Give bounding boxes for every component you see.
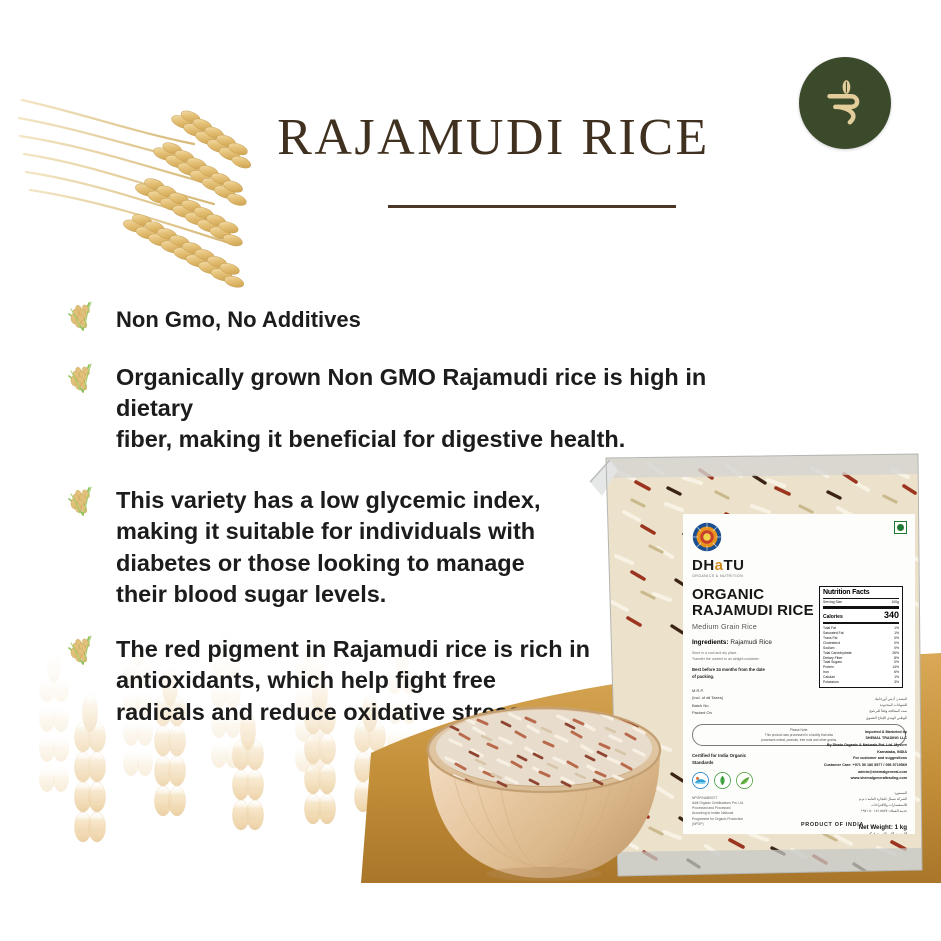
- rice-bowl-image: [388, 688, 700, 888]
- calories-label: Calories: [823, 614, 843, 620]
- importer-text: Imported & Marketed by SHEMAL TRADING LL…: [819, 729, 907, 782]
- list-item-label: Non Gmo, No Additives: [116, 300, 361, 335]
- list-item-label: Organically grown Non GMO Rajamudi rice …: [116, 362, 762, 455]
- list-item-label: This variety has a low glycemic index, m…: [116, 485, 540, 610]
- bottom-white-band: [0, 883, 941, 941]
- jaivik-bharat-badge-icon: [736, 772, 753, 789]
- rice-stalk-icon: [62, 630, 102, 670]
- nutrition-row: Potassium3%: [823, 680, 899, 685]
- serving-size-value: 100g: [891, 600, 899, 605]
- list-item: Non Gmo, No Additives: [62, 300, 762, 336]
- calories-row: Calories 340: [823, 610, 899, 620]
- calories-value: 340: [884, 610, 899, 620]
- list-item: This variety has a low glycemic index, m…: [62, 485, 762, 610]
- product-infographic-poster: RAJAMUDI RICE: [0, 0, 941, 941]
- veg-dot: [897, 524, 904, 531]
- page-title: RAJAMUDI RICE: [0, 112, 941, 164]
- list-item: Organically grown Non GMO Rajamudi rice …: [62, 362, 762, 455]
- label-right-column: Nutrition Facts Serving Size 100g Calori…: [819, 586, 907, 834]
- nutrition-row-value: 3%: [894, 680, 899, 685]
- nutrition-rows: Total Fat1%Saturated Fat1%Trans Fat0%Cho…: [823, 626, 899, 685]
- nutrition-rule-thick: [823, 606, 899, 609]
- arabic-importer-text: المستورد الشركة شمال للتجارة العامة ذ.م.…: [819, 790, 907, 815]
- serving-size-label: Serving Size: [823, 600, 842, 605]
- dhatu-r-monogram-icon: [816, 74, 874, 132]
- nutrition-row-label: Potassium: [823, 680, 839, 685]
- arabic-exporter-text: المصدر: أديتي أورجانيك للشهادات المحدودة…: [819, 696, 907, 721]
- green-vegetarian-mark-icon: [894, 521, 907, 534]
- title-divider: [388, 205, 676, 208]
- rice-stalk-icon: [62, 358, 102, 398]
- brand-logo: [799, 57, 891, 149]
- benefits-list: Non Gmo, No Additives: [62, 300, 762, 745]
- organic-certification-badge-icon: [714, 772, 731, 789]
- nutrition-rule: [823, 598, 899, 599]
- net-weight-arabic: الوزن الصافي: ١ كجم: [819, 832, 907, 834]
- rice-stalk-icon: [62, 296, 102, 336]
- serving-size-row: Serving Size 100g: [823, 600, 899, 605]
- product-of-india: PRODUCT OF INDIA: [801, 822, 864, 828]
- rice-stalk-icon: [62, 481, 102, 521]
- nutrition-rule-thick-2: [823, 622, 899, 625]
- nutrition-facts-title: Nutrition Facts: [823, 589, 899, 596]
- nutrition-facts-panel: Nutrition Facts Serving Size 100g Calori…: [819, 586, 903, 688]
- page-title-wrap: RAJAMUDI RICE: [0, 112, 941, 164]
